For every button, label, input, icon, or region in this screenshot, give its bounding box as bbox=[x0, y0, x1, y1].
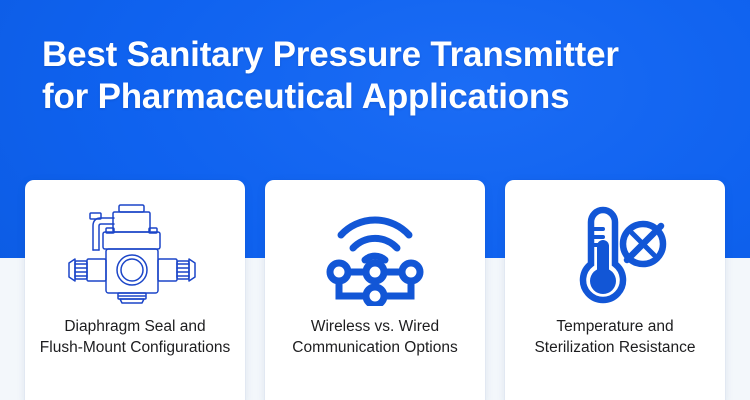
wireless-network-icon bbox=[315, 198, 435, 310]
page-title-line-1: Best Sanitary Pressure Transmitter bbox=[42, 34, 708, 76]
feature-card-temperature-sterilization[interactable]: Temperature and Sterilization Resistance bbox=[505, 180, 725, 400]
feature-card-diaphragm-seal[interactable]: Diaphragm Seal and Flush-Mount Configura… bbox=[25, 180, 245, 400]
diaphragm-seal-valve-icon bbox=[56, 198, 214, 310]
feature-card-label-line-2: Sterilization Resistance bbox=[513, 337, 717, 358]
feature-card-row: Diaphragm Seal and Flush-Mount Configura… bbox=[25, 180, 725, 400]
page-title-line-2: for Pharmaceutical Applications bbox=[42, 76, 708, 118]
feature-card-label: Temperature and Sterilization Resistance bbox=[505, 316, 725, 358]
feature-card-label: Wireless vs. Wired Communication Options bbox=[265, 316, 485, 358]
feature-card-label-line-2: Communication Options bbox=[273, 337, 477, 358]
feature-card-label: Diaphragm Seal and Flush-Mount Configura… bbox=[25, 316, 245, 358]
page-title: Best Sanitary Pressure Transmitter for P… bbox=[0, 34, 750, 118]
feature-card-label-line-1: Diaphragm Seal and bbox=[33, 316, 237, 337]
feature-card-label-line-1: Wireless vs. Wired bbox=[273, 316, 477, 337]
feature-card-wireless-wired[interactable]: Wireless vs. Wired Communication Options bbox=[265, 180, 485, 400]
thermometer-sterilization-icon bbox=[555, 198, 675, 310]
feature-card-label-line-1: Temperature and bbox=[513, 316, 717, 337]
infographic-poster: Best Sanitary Pressure Transmitter for P… bbox=[0, 0, 750, 400]
feature-card-label-line-2: Flush-Mount Configurations bbox=[33, 337, 237, 358]
